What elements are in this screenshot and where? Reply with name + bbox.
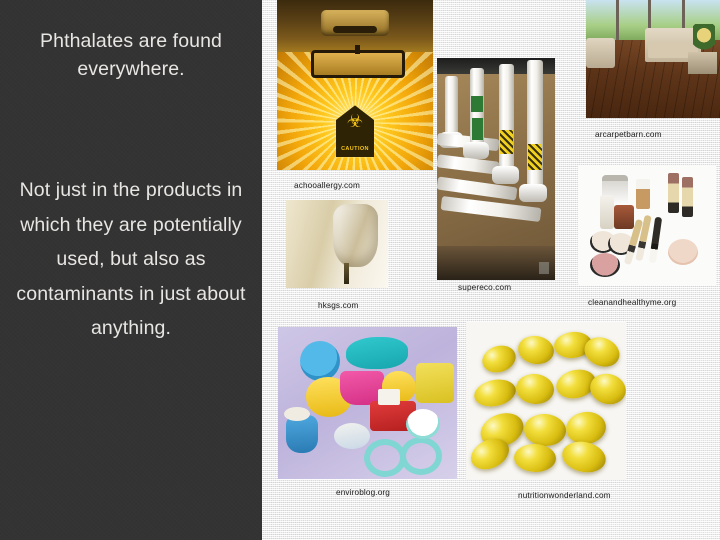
- bear-mirror-toy: [406, 409, 440, 439]
- blue-monster-toy: [300, 341, 340, 381]
- pipe-elbow: [519, 184, 547, 202]
- teal-seal-plush: [346, 337, 408, 369]
- caption-arcarpetbarn: arcarpetbarn.com: [595, 130, 662, 139]
- side-table: [688, 52, 717, 74]
- caption-supereco: supereco.com: [458, 283, 511, 292]
- watermark-seal: [539, 262, 549, 274]
- overhead-console: [321, 10, 390, 36]
- caution-label: CAUTION: [336, 146, 374, 152]
- rear-view-mirror: [311, 50, 404, 78]
- left-text-panel: Phthalates are found everywhere. Not jus…: [0, 0, 262, 540]
- pipe-elbow: [492, 166, 519, 184]
- photo-pvc-pipes: [437, 58, 555, 280]
- photo-cosmetics: [578, 165, 716, 285]
- paragraph-one: Phthalates are found everywhere.: [8, 27, 254, 83]
- teething-ring: [400, 437, 442, 475]
- pipe-elbow: [463, 142, 489, 159]
- lipstick: [682, 177, 693, 217]
- pipe-label-yellow: [500, 130, 513, 154]
- caption-enviroblog: enviroblog.org: [336, 488, 390, 497]
- cosmetic-bottle: [600, 195, 614, 229]
- lipstick: [668, 173, 679, 213]
- baby-rattle: [334, 423, 370, 449]
- caption-achooallergy: achooallergy.com: [294, 181, 360, 190]
- yellow-block-toy: [416, 363, 454, 403]
- armchair: [586, 38, 615, 68]
- caption-nutritionwonderland: nutritionwonderland.com: [518, 491, 611, 500]
- paragraph-two: Not just in the products in which they a…: [8, 173, 254, 346]
- nail-polish-bottle: [636, 179, 650, 209]
- pipe-label-green: [472, 118, 483, 140]
- caption-cleanandhealthyme: cleanandhealthyme.org: [588, 298, 676, 307]
- pipe-segment: [445, 76, 458, 138]
- blush-compact: [590, 253, 620, 277]
- iv-tube: [344, 263, 349, 284]
- photo-car-air-freshener: ☣ CAUTION: [277, 0, 433, 170]
- pipe-label-green: [471, 96, 483, 112]
- powder-puff: [668, 239, 698, 265]
- pipe-label-yellow: [528, 144, 542, 170]
- penguin-cup-toy: [286, 415, 318, 453]
- bronzer-compact: [614, 205, 634, 229]
- caption-hksgs: hksgs.com: [318, 301, 358, 310]
- photo-gel-capsules: [466, 322, 626, 480]
- photo-iv-drip-bag: [286, 200, 388, 288]
- slide-canvas: Phthalates are found everywhere. Not jus…: [0, 0, 720, 540]
- photo-hardwood-living-room: [586, 0, 720, 118]
- biohazard-icon: ☣: [347, 112, 363, 130]
- iv-bag: [333, 204, 378, 267]
- pipe-floor: [437, 246, 555, 280]
- photo-baby-toys: [278, 327, 457, 479]
